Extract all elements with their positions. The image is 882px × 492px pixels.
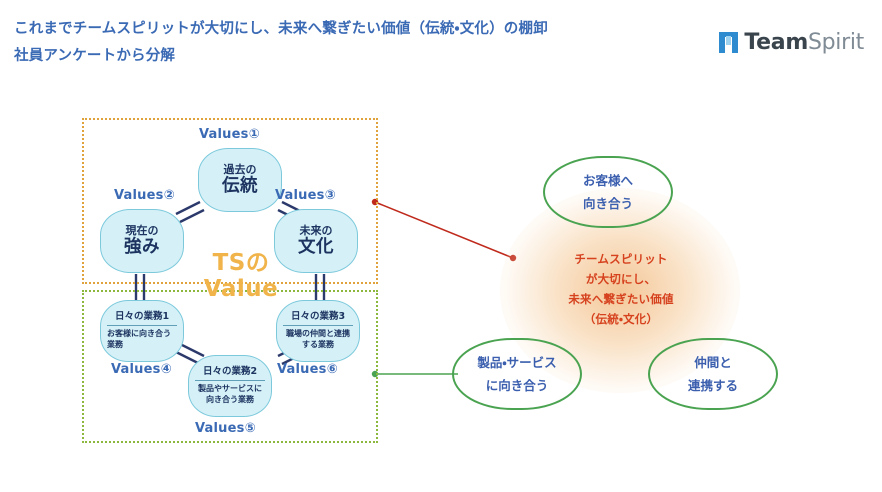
value-node-tsuyomi-main: 強み (124, 238, 160, 257)
outcome-customer-line-1: お客様へ (583, 169, 633, 192)
value-node-bunka[interactable]: 未来の 文化 (274, 209, 358, 273)
outcome-product-line-1: 製品・サービス (477, 351, 556, 374)
values-label-5: Values⑤ (195, 421, 256, 436)
focus-caption-line-1: チームスピリット (528, 249, 714, 269)
values-diagram: TSの Value 過去の 伝統 現在の 強み 未来の 文化 日々の業務1 お客… (0, 0, 882, 492)
outcome-customer[interactable]: お客様へ 向き合う (543, 156, 673, 228)
values-label-2: Values② (114, 188, 175, 203)
focus-caption: チームスピリット が大切にし、 未来へ繋ぎたい価値 （伝統・文化） (528, 249, 714, 330)
value-node-bunka-sub: 未来の (300, 224, 333, 237)
focus-caption-line-2: が大切にし、 (528, 269, 714, 289)
value-node-dento[interactable]: 過去の 伝統 (198, 148, 282, 212)
link-heritage-to-focus (372, 199, 516, 261)
value-node-tsuyomi-sub: 現在の (126, 224, 159, 237)
value-node-tsuyomi[interactable]: 現在の 強み (100, 209, 184, 273)
focus-caption-line-4: （伝統・文化） (528, 309, 714, 329)
values-label-3: Values③ (275, 188, 336, 203)
outcome-product-line-2: に向き合う (486, 374, 549, 397)
outcome-team[interactable]: 仲間と 連携する (648, 338, 778, 410)
daily-task-3-desc: 職場の仲間と連携する業務 (283, 329, 353, 351)
daily-task-node-2[interactable]: 日々の業務2 製品やサービスに向き合う業務 (188, 355, 272, 417)
link-daily-to-product (372, 371, 458, 377)
outcome-team-line-2: 連携する (688, 374, 738, 397)
daily-task-3-title: 日々の業務3 (283, 311, 353, 326)
daily-task-node-3[interactable]: 日々の業務3 職場の仲間と連携する業務 (276, 300, 360, 362)
outcome-product[interactable]: 製品・サービス に向き合う (452, 338, 582, 410)
daily-task-1-desc: お客様に向き合う業務 (107, 329, 177, 351)
value-node-dento-main: 伝統 (222, 177, 258, 196)
values-label-6: Values⑥ (277, 362, 338, 377)
daily-task-1-title: 日々の業務1 (107, 311, 177, 326)
daily-task-2-desc: 製品やサービスに向き合う業務 (195, 384, 265, 406)
daily-task-node-1[interactable]: 日々の業務1 お客様に向き合う業務 (100, 300, 184, 362)
value-node-bunka-main: 文化 (298, 238, 334, 257)
value-node-dento-sub: 過去の (224, 163, 257, 176)
ts-value-line-2: Value (186, 276, 296, 302)
values-label-4: Values④ (111, 362, 172, 377)
outcome-team-line-1: 仲間と (694, 351, 732, 374)
outcome-customer-line-2: 向き合う (583, 192, 633, 215)
focus-caption-line-3: 未来へ繋ぎたい価値 (528, 289, 714, 309)
daily-task-2-title: 日々の業務2 (195, 366, 265, 381)
values-label-1: Values① (199, 127, 260, 142)
